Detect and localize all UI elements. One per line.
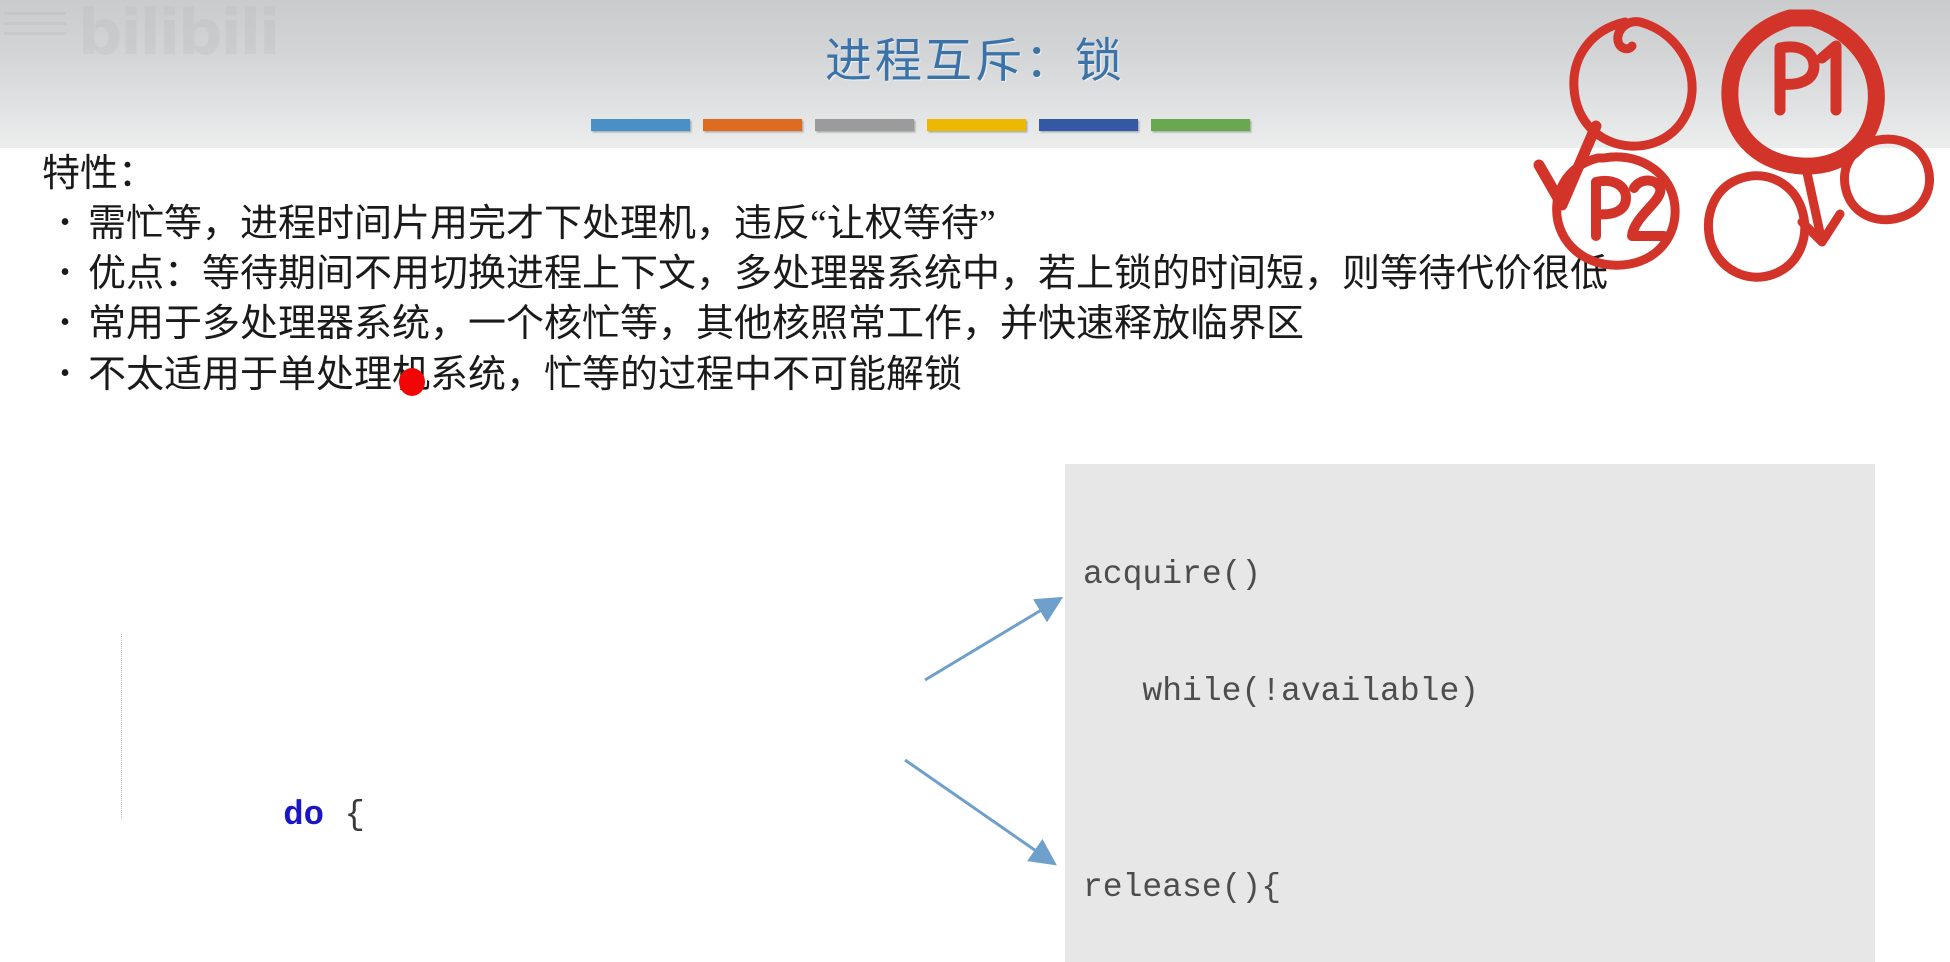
- code-line-do: do {: [120, 758, 731, 876]
- bullet-text-1: 需忙等，进程时间片用完才下处理机，违反“让权等待”: [88, 199, 996, 249]
- bullet-text-4: 不太适用于单处理机系统，忙等的过程中不可能解锁: [88, 350, 962, 400]
- release-line-1: release(){: [1065, 869, 1850, 908]
- code-box-release: release(){ available = true; //释放锁 }: [1065, 777, 1850, 962]
- acquire-line-2: while(!available): [1065, 673, 1875, 712]
- bullet-item-1: • 需忙等，进程时间片用完才下处理机，违反“让权等待”: [42, 199, 1542, 249]
- bullet-marker-icon: •: [42, 299, 88, 347]
- bullet-item-4: • 不太适用于单处理机系统，忙等的过程中不可能解锁: [42, 350, 1542, 400]
- code-brace-open: {: [324, 797, 365, 835]
- cursor-dot: [399, 368, 425, 396]
- page-title: 进程互斥：锁: [0, 22, 1950, 91]
- bullet-text-2: 优点：等待期间不用切换进程上下文，多处理器系统中，若上锁的时间短，则等待代价很低: [88, 249, 1608, 299]
- acquire-code-1: acquire(): [1065, 556, 1261, 595]
- acquire-line-1: acquire(): [1065, 556, 1875, 595]
- ink-circle-blank-right: [1844, 139, 1929, 220]
- bullet-item-2: • 优点：等待期间不用切换进程上下文，多处理器系统中，若上锁的时间短，则等待代价…: [42, 249, 1542, 299]
- accent-bar-blue: [591, 119, 690, 131]
- code-block-structure: do { entry section; //进入区 critical secti…: [120, 600, 731, 962]
- ink-arrow-p1: [1802, 168, 1840, 242]
- ink-label-p2: [1596, 181, 1664, 237]
- accent-bar-row: [591, 119, 1250, 131]
- slide-canvas: bilibili 进程互斥：锁 特性： • 需忙等，进程时间片用完才下处理机，违…: [0, 0, 1950, 962]
- bullet-text-3: 常用于多处理器系统，一个核忙等，其他核照常工作，并快速释放临界区: [88, 299, 1304, 349]
- connector-exit-to-release: [905, 760, 1052, 862]
- bullet-marker-icon: •: [42, 249, 88, 297]
- bullet-item-3: • 常用于多处理器系统，一个核忙等，其他核照常工作，并快速释放临界区: [42, 299, 1542, 349]
- indent-guide-line: [121, 634, 123, 819]
- release-code-1: release(){: [1065, 869, 1281, 908]
- bullet-marker-icon: •: [42, 350, 88, 398]
- accent-bar-dark-blue: [1039, 119, 1138, 131]
- accent-bar-green: [1151, 119, 1250, 131]
- bullet-marker-icon: •: [42, 199, 88, 247]
- accent-bar-gray: [815, 119, 914, 131]
- acquire-code-2: while(!available): [1065, 673, 1479, 712]
- content-body: 特性： • 需忙等，进程时间片用完才下处理机，违反“让权等待” • 优点：等待期…: [42, 154, 1542, 400]
- accent-bar-yellow: [927, 119, 1026, 131]
- code-keyword-do: do: [283, 797, 324, 835]
- connector-entry-to-acquire: [925, 600, 1058, 680]
- section-heading: 特性：: [42, 154, 1542, 195]
- ink-circle-blank-bottom: [1708, 176, 1804, 277]
- accent-bar-orange: [703, 119, 802, 131]
